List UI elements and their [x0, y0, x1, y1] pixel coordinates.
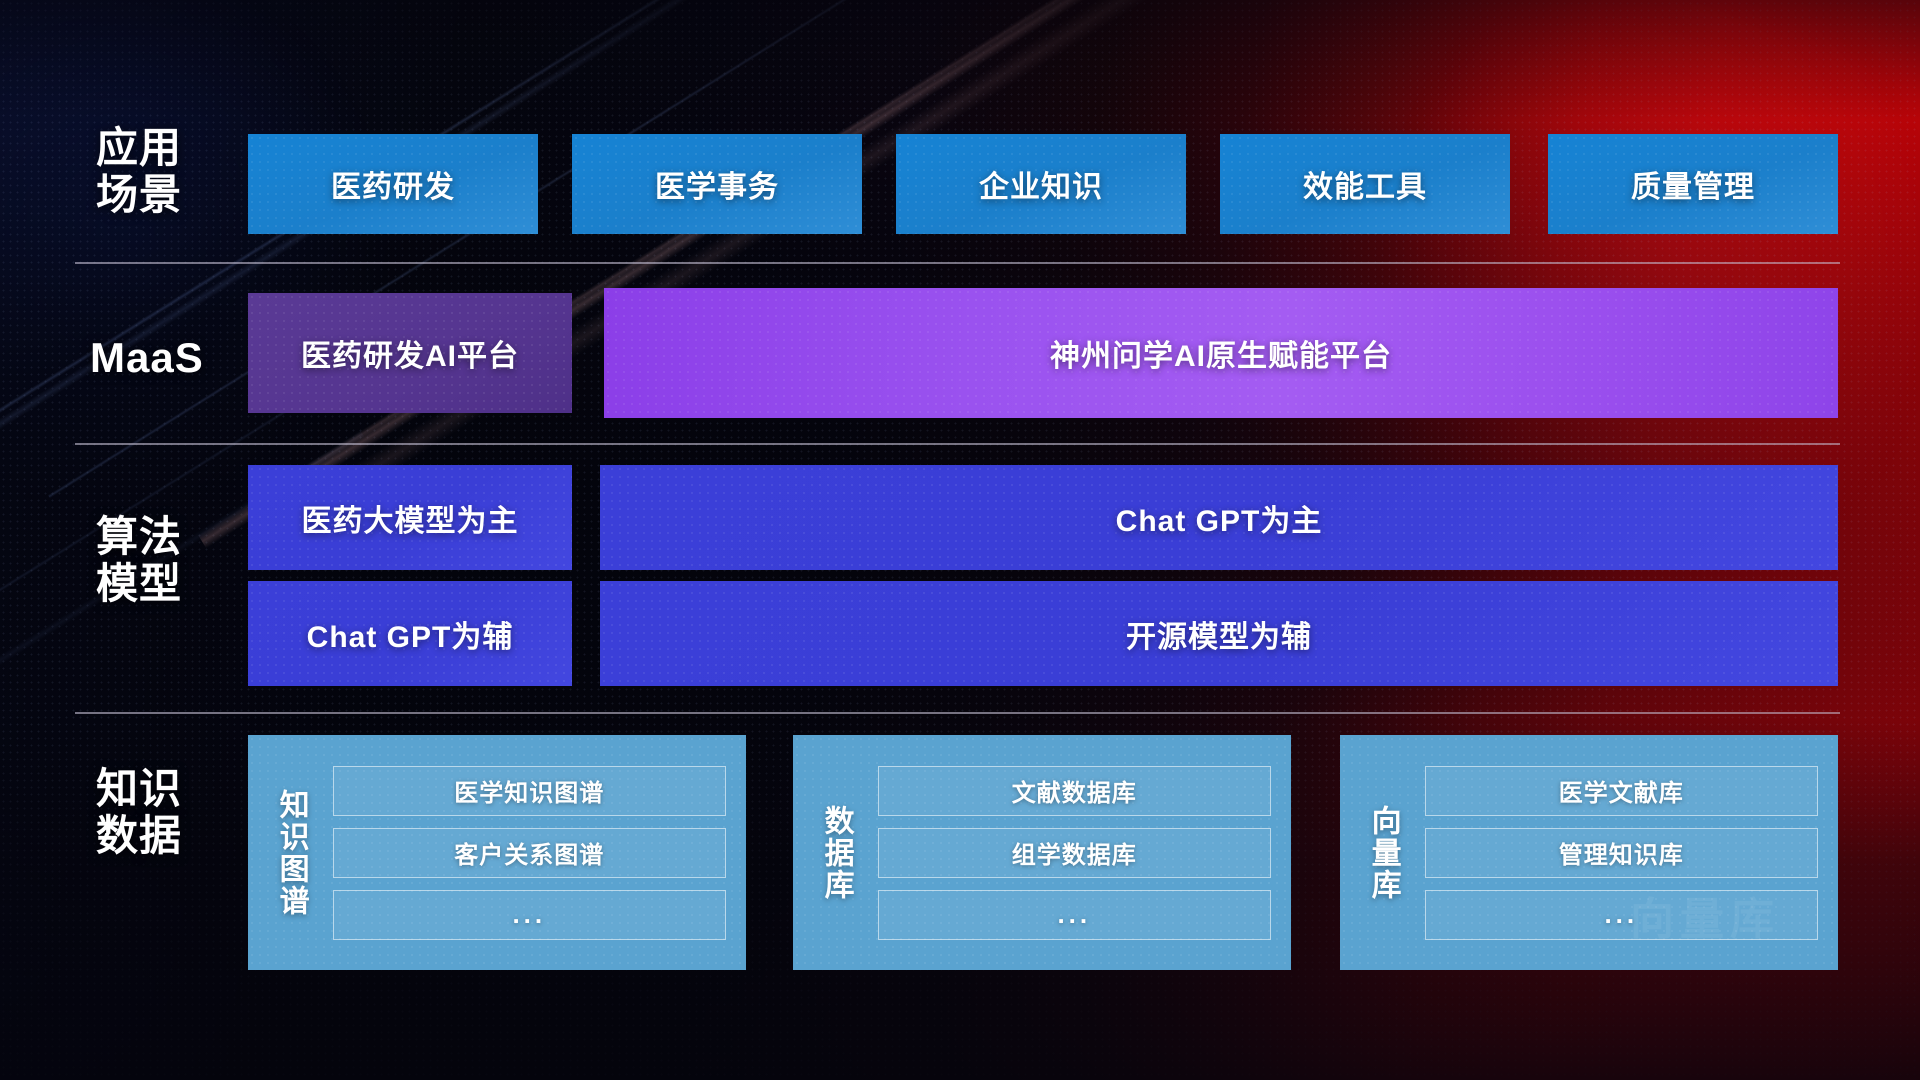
algo-box-left-secondary[interactable]: Chat GPT为辅	[248, 581, 572, 686]
app-box-5[interactable]: 质量管理	[1548, 134, 1838, 234]
divider-maas-algorithm	[75, 443, 1840, 445]
knowledge-panel-graph-items: 医学知识图谱 客户关系图谱 ...	[333, 766, 726, 940]
app-box-1-label: 医药研发	[331, 162, 455, 206]
knowledge-item[interactable]: ...	[878, 890, 1271, 940]
knowledge-item[interactable]: 文献数据库	[878, 766, 1271, 816]
knowledge-panel-graph[interactable]: 知识图谱 医学知识图谱 客户关系图谱 ...	[248, 735, 746, 970]
knowledge-item[interactable]: 组学数据库	[878, 828, 1271, 878]
algo-box-right-primary-label: Chat GPT为主	[1116, 496, 1323, 540]
maas-box-shenzhou-platform[interactable]: 神州问学AI原生赋能平台	[604, 288, 1838, 418]
algo-box-left-secondary-label: Chat GPT为辅	[307, 612, 514, 656]
algo-box-left-primary-label: 医药大模型为主	[302, 496, 519, 540]
app-box-5-label: 质量管理	[1631, 162, 1755, 206]
maas-box-shenzhou-platform-label: 神州问学AI原生赋能平台	[1050, 331, 1392, 375]
algo-box-right-secondary-label: 开源模型为辅	[1126, 612, 1312, 656]
algo-box-left-primary[interactable]: 医药大模型为主	[248, 465, 572, 570]
knowledge-item[interactable]: 医学知识图谱	[333, 766, 726, 816]
app-box-4[interactable]: 效能工具	[1220, 134, 1510, 234]
row-label-knowledge-line1: 知识	[96, 765, 256, 812]
knowledge-panel-database-items: 文献数据库 组学数据库 ...	[878, 766, 1271, 940]
row-label-algorithm: 算法 模型	[96, 513, 256, 607]
knowledge-item[interactable]: 医学文献库	[1425, 766, 1818, 816]
knowledge-panel-vector-items: 医学文献库 管理知识库 ...	[1425, 766, 1818, 940]
knowledge-item[interactable]: ...	[1425, 890, 1818, 940]
knowledge-panel-vector[interactable]: 向量库 医学文献库 管理知识库 ... 向量库	[1340, 735, 1838, 970]
maas-box-medical-platform-label: 医药研发AI平台	[301, 331, 519, 375]
row-label-application-line1: 应用	[96, 124, 256, 171]
row-label-application: 应用 场景	[96, 124, 256, 218]
app-box-3[interactable]: 企业知识	[896, 134, 1186, 234]
knowledge-panel-database[interactable]: 数据库 文献数据库 组学数据库 ...	[793, 735, 1291, 970]
app-box-3-label: 企业知识	[979, 162, 1103, 206]
row-label-algorithm-line2: 模型	[96, 560, 256, 607]
algo-box-right-secondary[interactable]: 开源模型为辅	[600, 581, 1838, 686]
divider-application-maas	[75, 262, 1840, 264]
app-box-4-label: 效能工具	[1303, 162, 1427, 206]
row-label-knowledge: 知识 数据	[96, 765, 256, 859]
row-label-algorithm-line1: 算法	[96, 513, 256, 560]
app-box-2-label: 医学事务	[655, 162, 779, 206]
divider-algorithm-knowledge	[75, 712, 1840, 714]
knowledge-item[interactable]: ...	[333, 890, 726, 940]
slide-canvas: 应用 场景 医药研发 医学事务 企业知识 效能工具 质量管理 MaaS	[0, 0, 1920, 1080]
algo-box-right-primary[interactable]: Chat GPT为主	[600, 465, 1838, 570]
knowledge-panel-database-title: 数据库	[817, 805, 854, 901]
knowledge-item[interactable]: 客户关系图谱	[333, 828, 726, 878]
knowledge-panel-vector-title: 向量库	[1364, 805, 1401, 901]
app-box-1[interactable]: 医药研发	[248, 134, 538, 234]
app-box-2[interactable]: 医学事务	[572, 134, 862, 234]
maas-box-medical-platform[interactable]: 医药研发AI平台	[248, 293, 572, 413]
knowledge-item[interactable]: 管理知识库	[1425, 828, 1818, 878]
diagram-content: 应用 场景 医药研发 医学事务 企业知识 效能工具 质量管理 MaaS	[0, 0, 1920, 1080]
row-label-knowledge-line2: 数据	[96, 812, 256, 859]
knowledge-panel-graph-title: 知识图谱	[272, 789, 309, 917]
row-label-application-line2: 场景	[96, 171, 256, 218]
